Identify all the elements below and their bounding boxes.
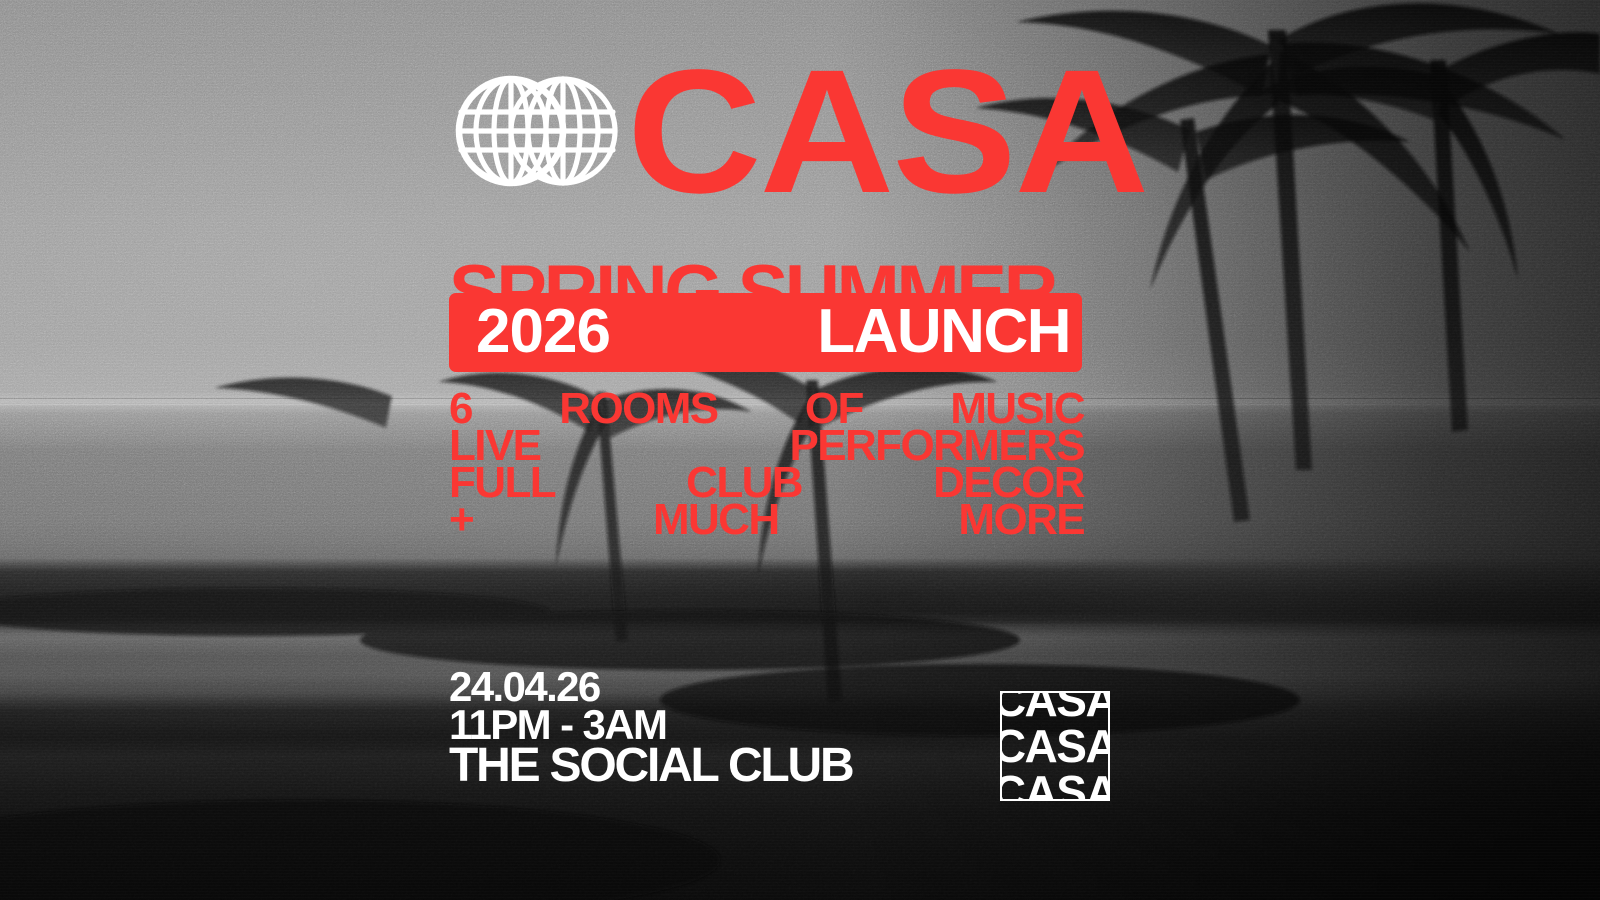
title-row: CASA	[449, 62, 1082, 192]
page-title: CASA	[627, 44, 1147, 220]
detail-token: ROOMS	[559, 390, 717, 427]
launch-band: 2026 LAUNCH	[449, 293, 1082, 372]
stamp-line: CASA	[1000, 723, 1110, 769]
launch-word: LAUNCH	[817, 300, 1070, 362]
stamp-line: CASA	[1000, 691, 1110, 723]
detail-token: MUCH	[653, 501, 779, 538]
event-poster: CASA SPRING SUMMER 2026 LAUNCH 6 ROOMS O…	[0, 0, 1600, 900]
event-date: 24.04.26	[449, 668, 852, 705]
detail-token: MORE	[958, 501, 1084, 538]
event-info-block: 24.04.26 11PM - 3AM THE SOCIAL CLUB	[449, 668, 852, 788]
details-list: 6 ROOMS OF MUSIC LIVE PERFORMERS FULL CL…	[449, 390, 1084, 538]
detail-token: +	[449, 501, 473, 538]
double-globe-icon	[449, 72, 625, 190]
event-venue: THE SOCIAL CLUB	[449, 744, 852, 788]
casa-stamp-logo: CASA CASA CASA	[1000, 691, 1110, 801]
poster-content: CASA SPRING SUMMER 2026 LAUNCH 6 ROOMS O…	[0, 0, 1600, 900]
launch-year: 2026	[476, 300, 610, 362]
stamp-line: CASA	[1000, 769, 1110, 801]
headline-block: CASA SPRING SUMMER	[449, 62, 1082, 192]
